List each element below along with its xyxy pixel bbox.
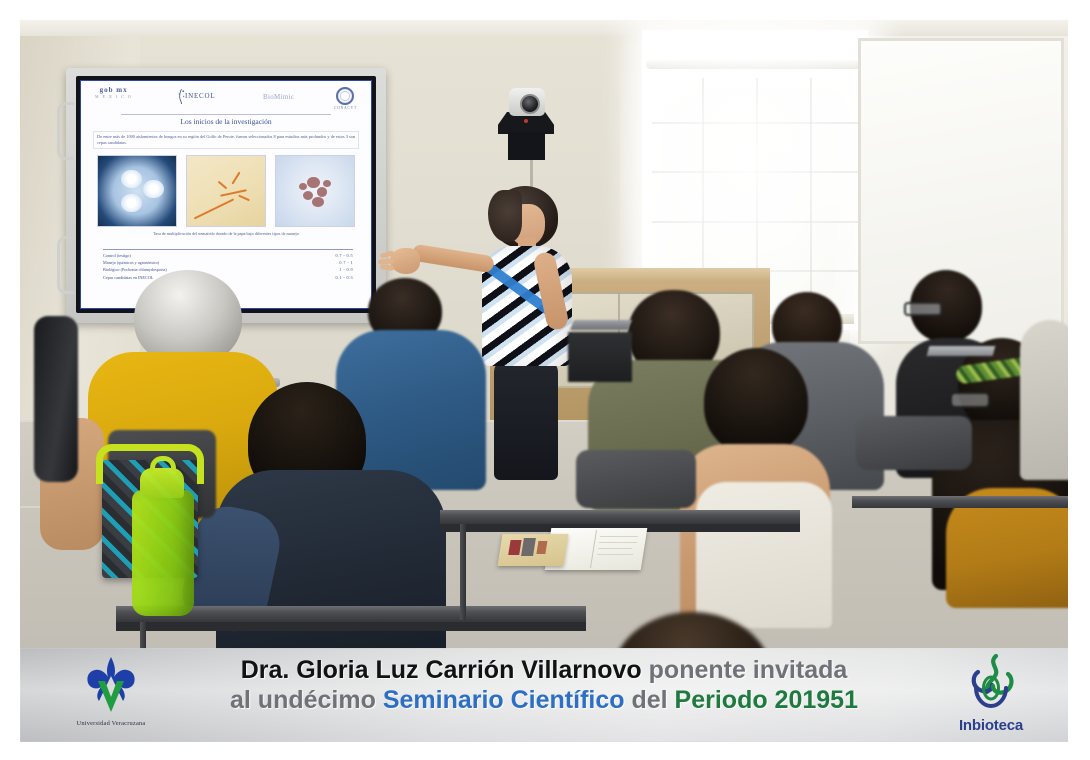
chair-back (576, 450, 696, 508)
green-water-bottle (132, 490, 194, 616)
white-halter-top (696, 482, 832, 628)
speaker-role: ponente invitada (642, 656, 848, 684)
slide-body-text: De entre más de 1000 aislamientos de hon… (93, 131, 359, 149)
biomimic-label: BioMimic (263, 93, 294, 101)
seminar-photo: gob mx M E X I C O INECOL BioMimic (20, 20, 1068, 742)
row-value: 1 - 0.9 (339, 267, 353, 272)
event-connector: del (625, 686, 675, 714)
gob-mx-label: gob mx (95, 86, 132, 94)
gob-mx-logo: gob mx M E X I C O (95, 86, 132, 99)
camera-lens-icon (520, 94, 540, 114)
camera-mic-box (508, 132, 545, 160)
banner-line-1: Dra. Gloria Luz Carrión Villarnovo ponen… (170, 656, 918, 686)
presentation-slide: gob mx M E X I C O INECOL BioMimic (80, 80, 372, 309)
spores-image (275, 155, 355, 227)
laptop (927, 346, 995, 356)
table-row: Manejo (químicos y agronómico) 0.7 - 1 (103, 259, 353, 266)
screenshot-root: gob mx M E X I C O INECOL BioMimic (0, 0, 1090, 760)
av-equipment (568, 332, 632, 382)
conacyt-logo: CONACYT (334, 87, 357, 110)
eyeglasses-icon (904, 302, 942, 316)
inbioteca-flame-icon (956, 654, 1026, 712)
row-label: Control (testigo) (103, 253, 131, 258)
chair-back (856, 416, 972, 470)
row-label: Cepas candidatas en INECOL (103, 275, 153, 280)
table-leg (460, 524, 466, 620)
uv-fleur-de-lis-icon (72, 656, 150, 714)
eyeglasses-icon (950, 392, 990, 408)
event-prefix: al undécimo (230, 686, 383, 714)
hyphae-image (186, 155, 266, 227)
culture-plate-image (97, 155, 177, 227)
folder (497, 534, 568, 566)
inbioteca-logo-caption: Inbioteca (932, 717, 1050, 734)
presenter-hand (390, 248, 420, 274)
ceiling-strip (20, 20, 1068, 36)
row-value: 0.1 - 0.3 (335, 275, 353, 280)
conacyt-label: CONACYT (334, 106, 357, 110)
inbioteca-logo: Inbioteca (932, 654, 1050, 740)
table-left-edge (116, 622, 586, 631)
banner-headline: Dra. Gloria Luz Carrión Villarnovo ponen… (170, 652, 918, 715)
presenter-hair-front (488, 190, 522, 242)
bottle-loop (150, 456, 176, 474)
display-bezel: gob mx M E X I C O INECOL BioMimic (76, 76, 376, 313)
universidad-veracruzana-logo: Universidad Veracruzana (52, 656, 170, 738)
table-row: Biológico (Pochonia chlamydosporia) 1 - … (103, 266, 353, 273)
table-row: Control (testigo) 0.7 - 0.5 (103, 252, 353, 259)
laptop (570, 320, 632, 330)
event-banner: Universidad Veracruzana Dra. Gloria Luz … (20, 648, 1068, 742)
display-handle-top (57, 102, 74, 160)
slide-caption: Tasa de multiplicación del nematodo dora… (101, 231, 351, 237)
dark-column (34, 316, 78, 482)
event-name: Seminario Científico (383, 686, 625, 714)
row-value: 0.7 - 1 (339, 260, 353, 265)
row-label: Biológico (Pochonia chlamydosporia) (103, 267, 167, 272)
event-period: Periodo 201951 (675, 686, 858, 714)
conacyt-icon (336, 87, 354, 105)
uv-logo-caption: Universidad Veracruzana (52, 720, 170, 727)
table-front (440, 510, 800, 524)
row-value: 0.7 - 0.5 (335, 253, 353, 258)
table-right (852, 496, 1068, 508)
speaker-name: Dra. Gloria Luz Carrión Villarnovo (241, 656, 642, 684)
gob-mx-sublabel: M E X I C O (95, 94, 132, 99)
table-row: Cepas candidatas en INECOL 0.1 - 0.3 (103, 274, 353, 281)
slide-divider (121, 114, 331, 115)
slide-title: Los inicios de la investigación (81, 117, 371, 126)
row-label: Manejo (químicos y agronómico) (103, 260, 159, 265)
inecol-label: INECOL (185, 92, 215, 100)
slide-logo-row: gob mx M E X I C O INECOL BioMimic (81, 83, 371, 113)
slide-image-row (97, 155, 355, 227)
presenter-legs (494, 360, 558, 480)
slide-data-table: Control (testigo) 0.7 - 0.5 Manejo (quím… (103, 249, 353, 281)
banner-line-2: al undécimo Seminario Científico del Per… (170, 686, 918, 716)
display-handle-bottom (57, 236, 74, 294)
camera-led-icon (524, 119, 528, 123)
